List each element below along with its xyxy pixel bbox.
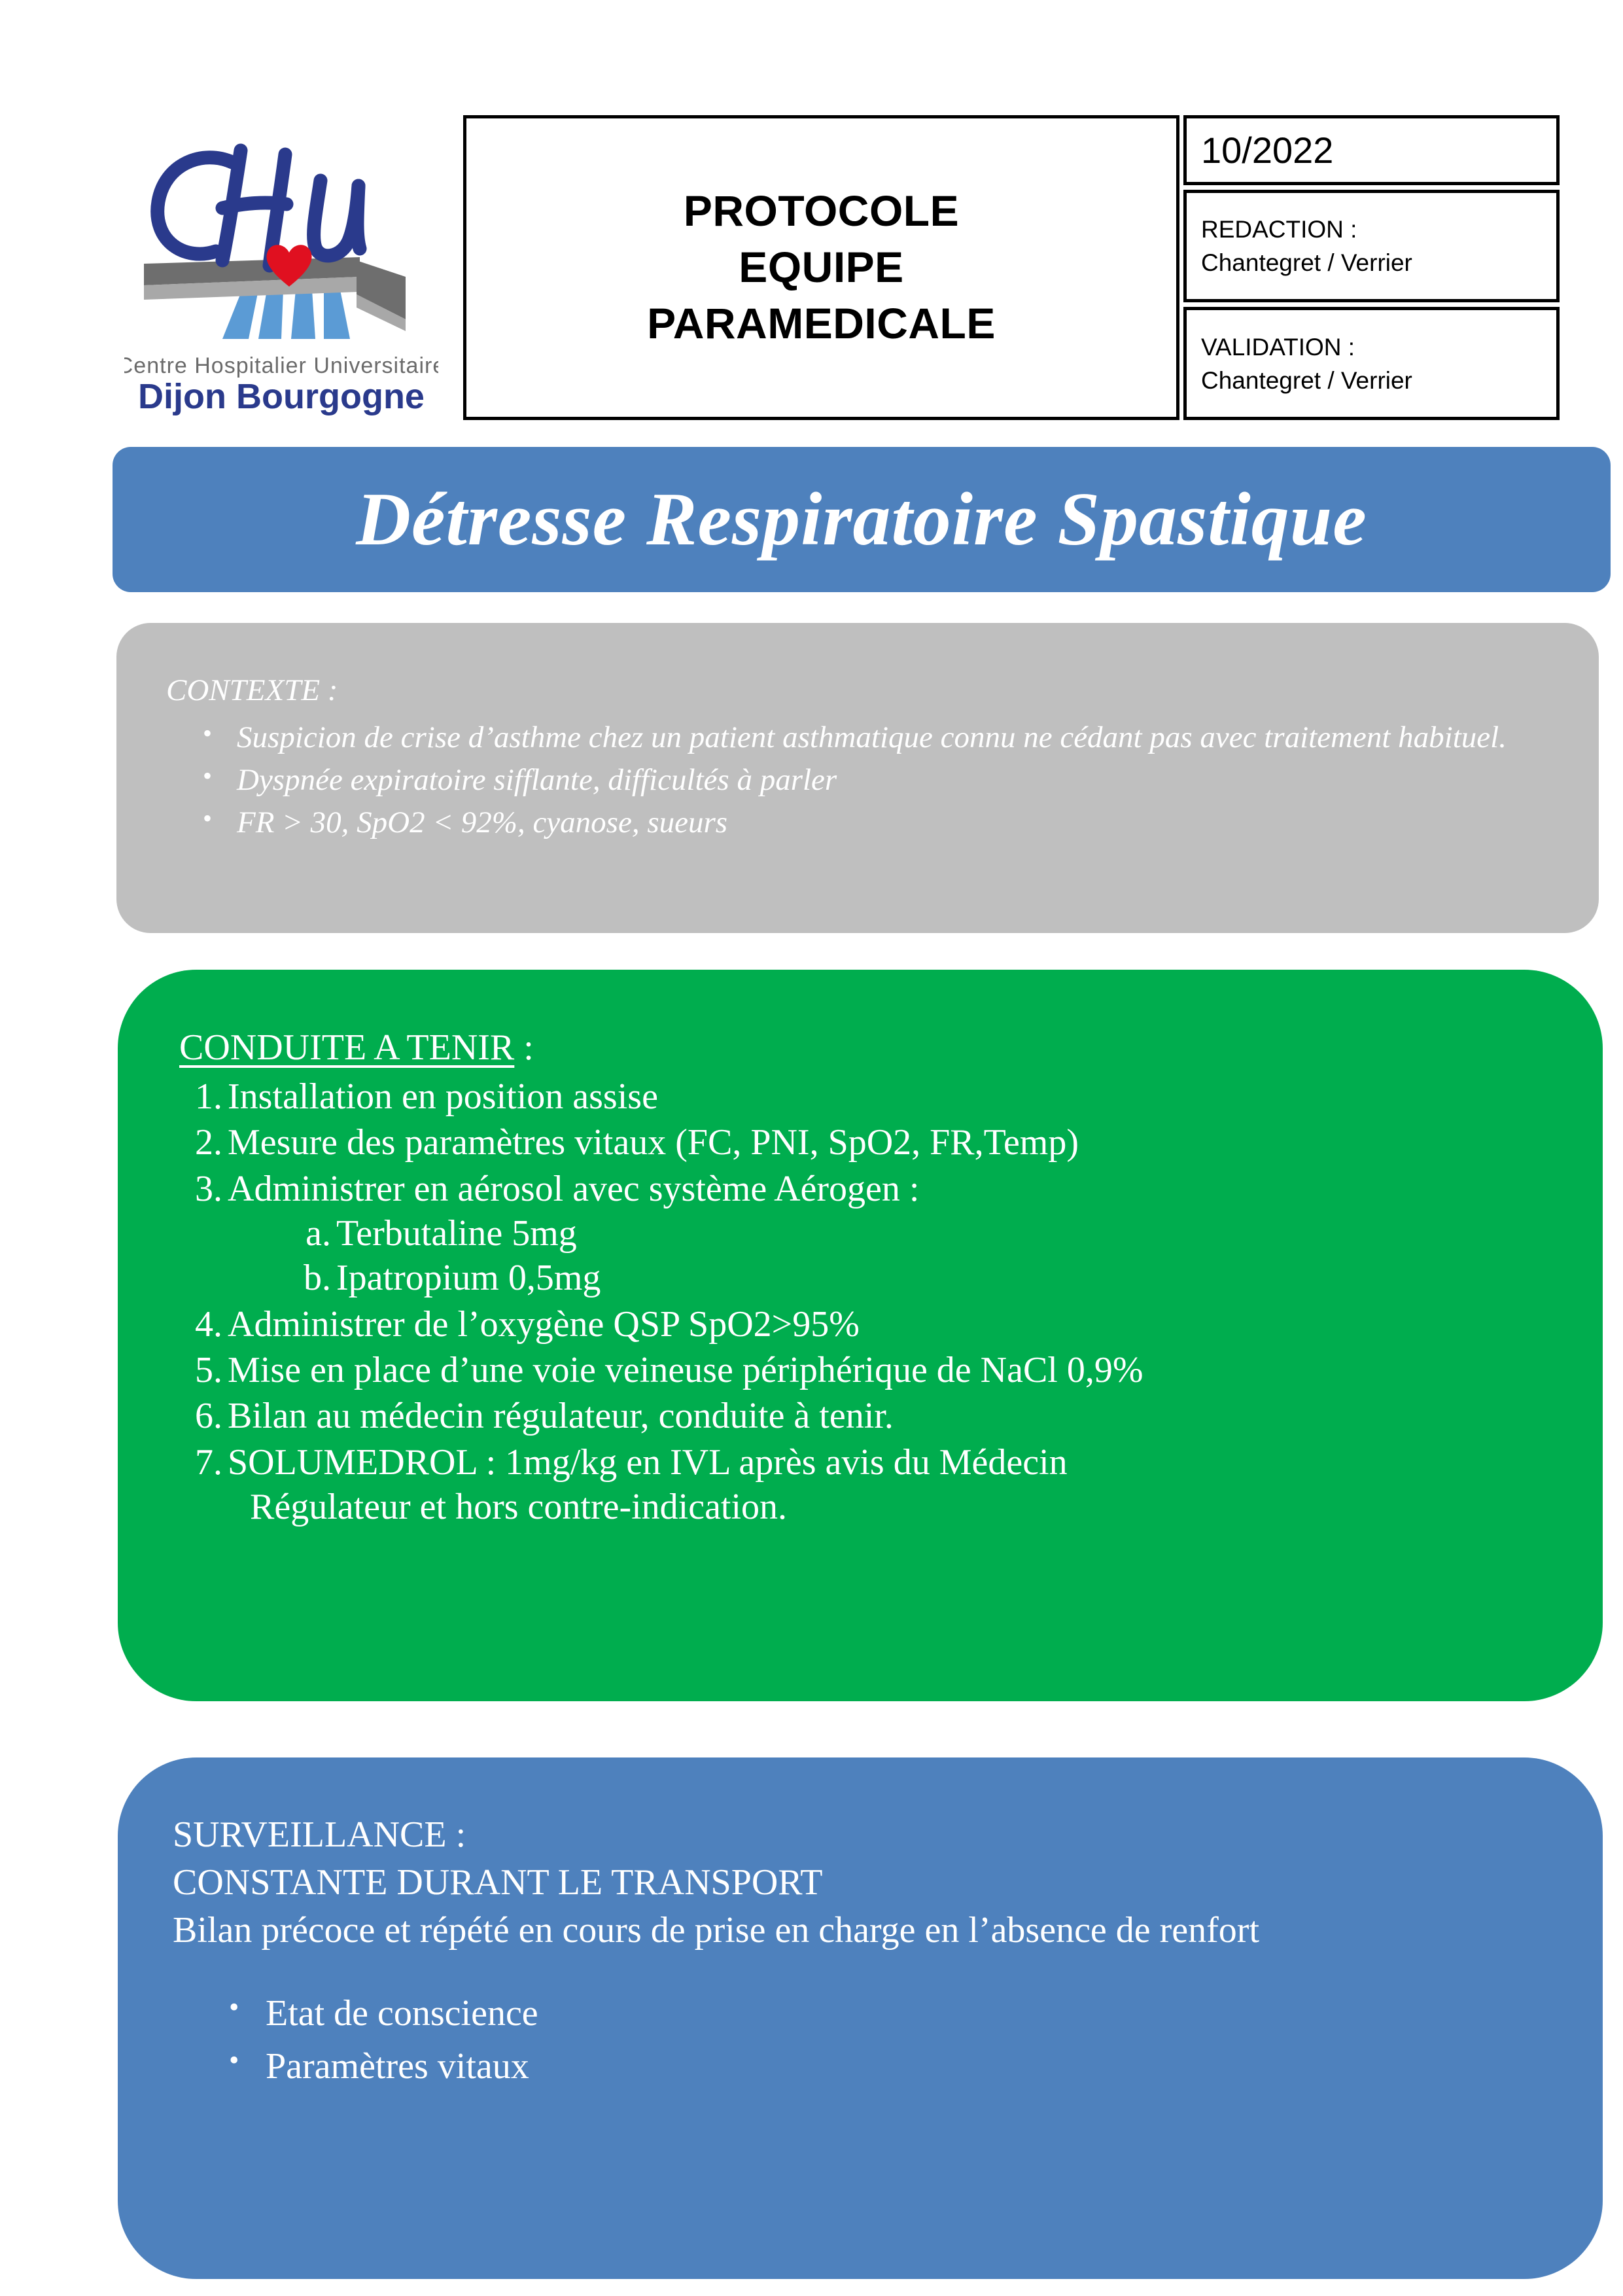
contexte-list: Suspicion de crise d’asthme chez un pati… bbox=[166, 718, 1553, 843]
protocol-title-line-3: PARAMEDICALE bbox=[647, 296, 996, 352]
substep-number: b. bbox=[297, 1256, 331, 1300]
step-number: 7. bbox=[178, 1440, 222, 1485]
step-number: 3. bbox=[178, 1167, 222, 1211]
document-title-banner: Détresse Respiratoire Spastique bbox=[113, 447, 1611, 592]
substep-text: Ipatropium 0,5mg bbox=[336, 1258, 601, 1298]
document-page: Centre Hospitalier Universitaire Dijon B… bbox=[0, 0, 1623, 2296]
list-item: 7. SOLUMEDROL : 1mg/kg en IVL après avis… bbox=[228, 1440, 1563, 1530]
list-item: b. Ipatropium 0,5mg bbox=[336, 1256, 1563, 1300]
step-text: Installation en position assise bbox=[228, 1074, 1563, 1119]
protocol-title-cell: PROTOCOLE EQUIPE PARAMEDICALE bbox=[463, 115, 1179, 420]
redaction-cell: REDACTION : Chantegret / Verrier bbox=[1183, 190, 1560, 303]
svg-text:Centre Hospitalier Universitai: Centre Hospitalier Universitaire bbox=[124, 353, 438, 378]
list-item: Suspicion de crise d’asthme chez un pati… bbox=[237, 718, 1553, 758]
chu-logo: Centre Hospitalier Universitaire Dijon B… bbox=[118, 115, 463, 423]
header-info-table: PROTOCOLE EQUIPE PARAMEDICALE 10/2022 RE… bbox=[463, 115, 1609, 420]
surveillance-list: Etat de conscience Paramètres vitaux bbox=[158, 1990, 1563, 2089]
list-item: 4. Administrer de l’oxygène QSP SpO2>95% bbox=[228, 1302, 1563, 1347]
chu-logo-icon: Centre Hospitalier Universitaire Dijon B… bbox=[124, 123, 438, 417]
step-number: 2. bbox=[178, 1120, 222, 1165]
document-title: Détresse Respiratoire Spastique bbox=[356, 482, 1367, 557]
conduite-heading: CONDUITE A TENIR : bbox=[179, 1026, 1563, 1069]
validation-value: Chantegret / Verrier bbox=[1201, 364, 1542, 397]
list-item: 3. Administrer en aérosol avec système A… bbox=[228, 1167, 1563, 1301]
substep-text: Terbutaline 5mg bbox=[336, 1213, 577, 1254]
protocol-date-cell: 10/2022 bbox=[1183, 115, 1560, 185]
list-item: FR > 30, SpO2 < 92%, cyanose, sueurs bbox=[237, 803, 1553, 843]
surveillance-line-3: Bilan précoce et répété en cours de pris… bbox=[173, 1907, 1563, 1954]
step-number: 1. bbox=[178, 1074, 222, 1119]
document-header: Centre Hospitalier Universitaire Dijon B… bbox=[118, 115, 1609, 428]
step-text: Bilan au médecin régulateur, conduite à … bbox=[228, 1394, 1563, 1438]
list-item: Etat de conscience bbox=[266, 1990, 1563, 2037]
contexte-section: CONTEXTE : Suspicion de crise d’asthme c… bbox=[116, 623, 1599, 933]
list-item: 5. Mise en place d’une voie veineuse pér… bbox=[228, 1348, 1563, 1392]
step-number: 4. bbox=[178, 1302, 222, 1347]
step-text: Administrer en aérosol avec système Aéro… bbox=[228, 1167, 1563, 1211]
list-item: 6. Bilan au médecin régulateur, conduite… bbox=[228, 1394, 1563, 1438]
list-item: 1. Installation en position assise bbox=[228, 1074, 1563, 1119]
protocol-title-line-2: EQUIPE bbox=[739, 239, 903, 296]
substep-number: a. bbox=[297, 1211, 331, 1256]
validation-cell: VALIDATION : Chantegret / Verrier bbox=[1183, 307, 1560, 420]
conduite-steps-list: 1. Installation en position assise 2. Me… bbox=[157, 1074, 1563, 1529]
step-text: Mesure des paramètres vitaux (FC, PNI, S… bbox=[228, 1120, 1563, 1165]
header-meta-column: 10/2022 REDACTION : Chantegret / Verrier… bbox=[1183, 115, 1560, 420]
protocol-title-line-1: PROTOCOLE bbox=[684, 183, 959, 239]
step-text-line-2: Régulateur et hors contre-indication. bbox=[228, 1485, 1563, 1529]
validation-label: VALIDATION : bbox=[1201, 330, 1542, 364]
step-text: Administrer de l’oxygène QSP SpO2>95% bbox=[228, 1302, 1563, 1347]
contexte-heading: CONTEXTE : bbox=[166, 671, 1553, 710]
step-number: 5. bbox=[178, 1348, 222, 1392]
conduite-substeps-list: a. Terbutaline 5mg b. Ipatropium 0,5mg bbox=[228, 1211, 1563, 1301]
step-text: Mise en place d’une voie veineuse périph… bbox=[228, 1348, 1563, 1392]
surveillance-heading: SURVEILLANCE : bbox=[173, 1811, 1563, 1859]
list-item: Dyspnée expiratoire sifflante, difficult… bbox=[237, 760, 1553, 800]
list-item: 2. Mesure des paramètres vitaux (FC, PNI… bbox=[228, 1120, 1563, 1165]
protocol-date: 10/2022 bbox=[1201, 129, 1542, 171]
conduite-heading-text: CONDUITE A TENIR bbox=[179, 1027, 514, 1068]
step-text: SOLUMEDROL : 1mg/kg en IVL après avis du… bbox=[228, 1440, 1563, 1530]
conduite-heading-suffix: : bbox=[514, 1027, 534, 1068]
list-item: a. Terbutaline 5mg bbox=[336, 1211, 1563, 1256]
step-number: 6. bbox=[178, 1394, 222, 1438]
svg-text:Dijon Bourgogne: Dijon Bourgogne bbox=[138, 377, 425, 416]
surveillance-line-2: CONSTANTE DURANT LE TRANSPORT bbox=[173, 1859, 1563, 1907]
step-text-line-1: SOLUMEDROL : 1mg/kg en IVL après avis du… bbox=[228, 1442, 1068, 1483]
surveillance-section: SURVEILLANCE : CONSTANTE DURANT LE TRANS… bbox=[118, 1757, 1603, 2279]
list-item: Paramètres vitaux bbox=[266, 2043, 1563, 2090]
redaction-label: REDACTION : bbox=[1201, 213, 1542, 246]
conduite-a-tenir-section: CONDUITE A TENIR : 1. Installation en po… bbox=[118, 970, 1603, 1701]
redaction-value: Chantegret / Verrier bbox=[1201, 246, 1542, 279]
